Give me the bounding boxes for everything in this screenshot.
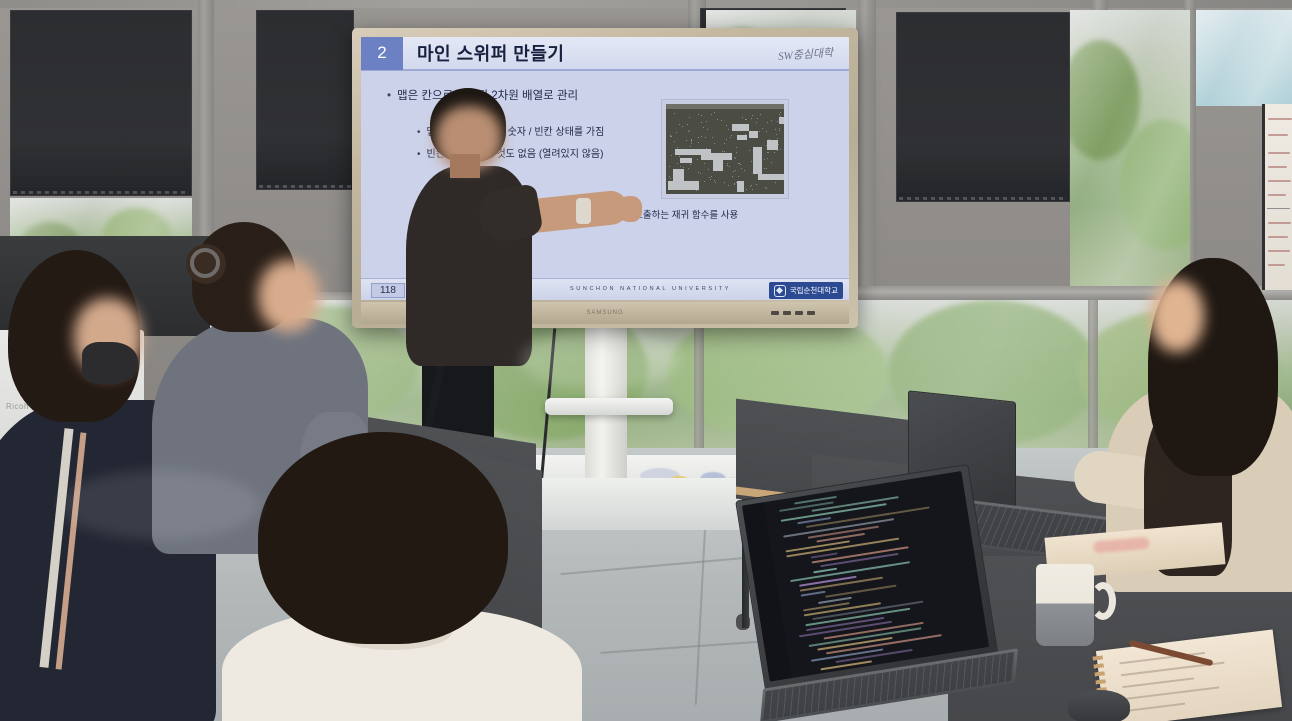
minesweeper-cell-dot xyxy=(698,142,699,143)
minesweeper-cell-dot xyxy=(701,122,702,123)
minesweeper-cell-dot xyxy=(764,159,765,160)
minesweeper-cell-dot xyxy=(766,168,767,169)
minesweeper-cell-dot xyxy=(767,152,768,153)
minesweeper-cell-dot xyxy=(751,185,752,186)
minesweeper-cell-dot xyxy=(689,130,690,131)
minesweeper-cell-dot xyxy=(671,155,672,156)
minesweeper-revealed-cell xyxy=(749,131,758,138)
minesweeper-cell-dot xyxy=(711,114,712,115)
minesweeper-cell-dot xyxy=(708,169,709,170)
student-b-hair-tie xyxy=(190,248,220,278)
minesweeper-cell-dot xyxy=(776,134,777,135)
window-pane-4 xyxy=(1196,10,1292,106)
minesweeper-cell-dot xyxy=(752,189,753,190)
minesweeper-cell-dot xyxy=(724,143,725,144)
blind-1 xyxy=(10,10,192,196)
code-line xyxy=(801,590,826,596)
minesweeper-cell-dot xyxy=(732,176,733,177)
clipboard-marking xyxy=(1093,537,1150,554)
minesweeper-cell-dot xyxy=(674,113,675,114)
minesweeper-cell-dot xyxy=(700,173,701,174)
wristwatch xyxy=(576,198,591,224)
student-c-hair xyxy=(258,432,508,644)
minesweeper-cell-dot xyxy=(710,179,711,180)
minesweeper-cell-dot xyxy=(726,139,727,140)
code-editor-screen[interactable] xyxy=(742,471,989,682)
minesweeper-cell-dot xyxy=(670,136,671,137)
minesweeper-cell-dot xyxy=(736,152,737,153)
minesweeper-cell-dot xyxy=(677,147,678,148)
minesweeper-cell-dot xyxy=(771,120,772,121)
notebook-handwriting-4 xyxy=(1124,686,1219,699)
minesweeper-cell-dot xyxy=(691,143,692,144)
minesweeper-revealed-cell xyxy=(737,135,748,140)
minesweeper-cell-dot xyxy=(752,115,753,116)
minesweeper-cell-dot xyxy=(704,181,705,182)
minesweeper-cell-dot xyxy=(691,141,692,142)
minesweeper-cell-dot xyxy=(767,158,768,159)
presenter-neck xyxy=(450,154,480,178)
minesweeper-cell-dot xyxy=(751,161,752,162)
minesweeper-cell-dot xyxy=(709,177,710,178)
minesweeper-cell-dot xyxy=(728,129,729,130)
minesweeper-cell-dot xyxy=(676,132,677,133)
student-c xyxy=(240,432,570,721)
minesweeper-cell-dot xyxy=(760,114,761,115)
minesweeper-cell-dot xyxy=(740,164,741,165)
minesweeper-cell-dot xyxy=(707,129,708,130)
minesweeper-cell-dot xyxy=(777,150,778,151)
minesweeper-cell-dot xyxy=(679,124,680,125)
minesweeper-cell-dot xyxy=(751,118,752,119)
minesweeper-cell-dot xyxy=(714,143,715,144)
code-line xyxy=(825,584,897,597)
minesweeper-cell-dot xyxy=(771,162,772,163)
minesweeper-cell-dot xyxy=(690,146,691,147)
minesweeper-cell-dot xyxy=(698,137,699,138)
minesweeper-cell-dot xyxy=(715,182,716,183)
university-emblem-icon xyxy=(774,285,786,297)
minesweeper-cell-dot xyxy=(727,165,728,166)
minesweeper-cell-dot xyxy=(742,117,743,118)
minesweeper-cell-dot xyxy=(762,128,763,129)
coffee-mug[interactable] xyxy=(1036,564,1094,646)
minesweeper-cell-dot xyxy=(701,115,702,116)
university-name-ko: 국립순천대학교 xyxy=(790,285,838,296)
minesweeper-cell-dot xyxy=(669,176,670,177)
student-d-face-blurred xyxy=(1150,280,1204,352)
minesweeper-cell-dot xyxy=(777,121,778,122)
notebook-handwriting-5 xyxy=(1125,703,1185,712)
minesweeper-cell-dot xyxy=(730,137,731,138)
minesweeper-board-figure xyxy=(661,99,789,199)
minesweeper-cell-dot xyxy=(733,171,734,172)
student-b-face-blurred xyxy=(258,260,320,332)
minesweeper-cell-dot xyxy=(757,118,758,119)
slide-watermark: SW중심대학 xyxy=(777,44,833,64)
student-a-face-mask xyxy=(82,342,138,384)
minesweeper-cell-dot xyxy=(767,122,768,123)
minesweeper-cell-dot xyxy=(779,130,780,131)
minesweeper-cell-dot xyxy=(689,117,690,118)
minesweeper-cell-dot xyxy=(679,156,680,157)
minesweeper-cell-dot xyxy=(775,129,776,130)
minesweeper-cell-dot xyxy=(729,166,730,167)
minesweeper-cell-dot xyxy=(728,185,729,186)
minesweeper-cell-dot xyxy=(738,176,739,177)
minesweeper-cell-dot xyxy=(765,187,766,188)
minesweeper-cell-dot xyxy=(736,147,737,148)
minesweeper-cell-dot xyxy=(670,135,671,136)
display-ports xyxy=(771,311,815,315)
minesweeper-cell-dot xyxy=(746,119,747,120)
minesweeper-cell-dot xyxy=(756,122,757,123)
minesweeper-cell-dot xyxy=(698,172,699,173)
minesweeper-cell-dot xyxy=(688,131,689,132)
minesweeper-cell-dot xyxy=(756,184,757,185)
minesweeper-cell-dot xyxy=(721,120,722,121)
laptop-code-editor[interactable]: LG xyxy=(735,462,1017,721)
mug-handle xyxy=(1090,582,1116,620)
minesweeper-revealed-cell xyxy=(701,153,732,160)
classroom-photo: Ricoh 2 마인 스위퍼 만들기 SW중심대학 맵은 칸으로 구성된 2차원… xyxy=(0,0,1292,721)
minesweeper-cell-dot xyxy=(780,149,781,150)
minesweeper-cell-dot xyxy=(671,136,672,137)
minesweeper-cell-dot xyxy=(670,178,671,179)
minesweeper-cell-dot xyxy=(764,168,765,169)
minesweeper-cell-dot xyxy=(774,152,775,153)
light-glare-2 xyxy=(60,470,260,540)
minesweeper-cell-dot xyxy=(703,127,704,128)
minesweeper-cell-dot xyxy=(735,170,736,171)
window-pane-3 xyxy=(1070,10,1190,286)
minesweeper-cell-dot xyxy=(731,135,732,136)
minesweeper-revealed-cell xyxy=(732,124,749,131)
minesweeper-cell-dot xyxy=(766,145,767,146)
minesweeper-cell-dot xyxy=(687,124,688,125)
minesweeper-revealed-cell xyxy=(753,147,761,174)
minesweeper-revealed-cell xyxy=(668,181,699,190)
minesweeper-cell-dot xyxy=(712,137,713,138)
minesweeper-cell-dot xyxy=(686,140,687,141)
blind-2 xyxy=(256,10,354,190)
minesweeper-cell-dot xyxy=(711,176,712,177)
minesweeper-cell-dot xyxy=(766,131,767,132)
light-glare-1 xyxy=(520,330,680,390)
minesweeper-revealed-cell xyxy=(737,181,744,192)
minesweeper-cell-dot xyxy=(674,141,675,142)
minesweeper-revealed-cell xyxy=(758,174,784,180)
minesweeper-cell-dot xyxy=(746,189,747,190)
minesweeper-cell-dot xyxy=(734,184,735,185)
minesweeper-cell-dot xyxy=(724,182,725,183)
minesweeper-cell-dot xyxy=(779,114,780,115)
minesweeper-board-titlebar xyxy=(666,104,784,109)
minesweeper-cell-dot xyxy=(741,168,742,169)
minesweeper-cell-dot xyxy=(768,152,769,153)
minesweeper-cell-dot xyxy=(705,137,706,138)
minesweeper-cell-dot xyxy=(749,150,750,151)
minesweeper-cell-dot xyxy=(759,131,760,132)
minesweeper-cell-dot xyxy=(688,168,689,169)
minesweeper-board-inner xyxy=(666,104,784,194)
minesweeper-cell-dot xyxy=(704,163,705,164)
notebook-handwriting-3 xyxy=(1122,677,1194,687)
minesweeper-cell-dot xyxy=(714,112,715,113)
slide-section-number: 2 xyxy=(361,37,403,70)
minesweeper-cell-dot xyxy=(734,157,735,158)
window-mullion-lower-2 xyxy=(1088,300,1098,450)
minesweeper-cell-dot xyxy=(750,186,751,187)
minesweeper-revealed-cell xyxy=(680,158,692,163)
minesweeper-cell-dot xyxy=(734,183,735,184)
minesweeper-cell-dot xyxy=(680,166,681,167)
minesweeper-cell-dot xyxy=(726,125,727,126)
minesweeper-cell-dot xyxy=(745,119,746,120)
minesweeper-cell-dot xyxy=(779,128,780,129)
minesweeper-cell-dot xyxy=(682,126,683,127)
minesweeper-revealed-cell xyxy=(779,117,784,124)
minesweeper-cell-dot xyxy=(669,166,670,167)
minesweeper-cell-dot xyxy=(775,182,776,183)
blind-4 xyxy=(896,12,1070,202)
minesweeper-cell-dot xyxy=(706,121,707,122)
minesweeper-cell-dot xyxy=(677,163,678,164)
university-logo: 국립순천대학교 xyxy=(769,282,843,299)
minesweeper-cell-dot xyxy=(697,159,698,160)
code-line xyxy=(790,562,910,583)
minesweeper-cell-dot xyxy=(714,180,715,181)
minesweeper-cell-dot xyxy=(698,114,699,115)
minesweeper-revealed-cell xyxy=(767,140,778,150)
minesweeper-cell-dot xyxy=(717,119,718,120)
slide-header: 2 마인 스위퍼 만들기 SW중심대학 xyxy=(361,37,849,71)
computer-mouse[interactable] xyxy=(1068,690,1130,721)
minesweeper-cell-dot xyxy=(701,136,702,137)
minesweeper-revealed-cell xyxy=(713,160,722,171)
slide-title: 마인 스위퍼 만들기 xyxy=(417,40,564,66)
minesweeper-cell-dot xyxy=(780,112,781,113)
minesweeper-cell-dot xyxy=(690,164,691,165)
minesweeper-cell-dot xyxy=(744,170,745,171)
presenter-hand xyxy=(616,196,642,222)
